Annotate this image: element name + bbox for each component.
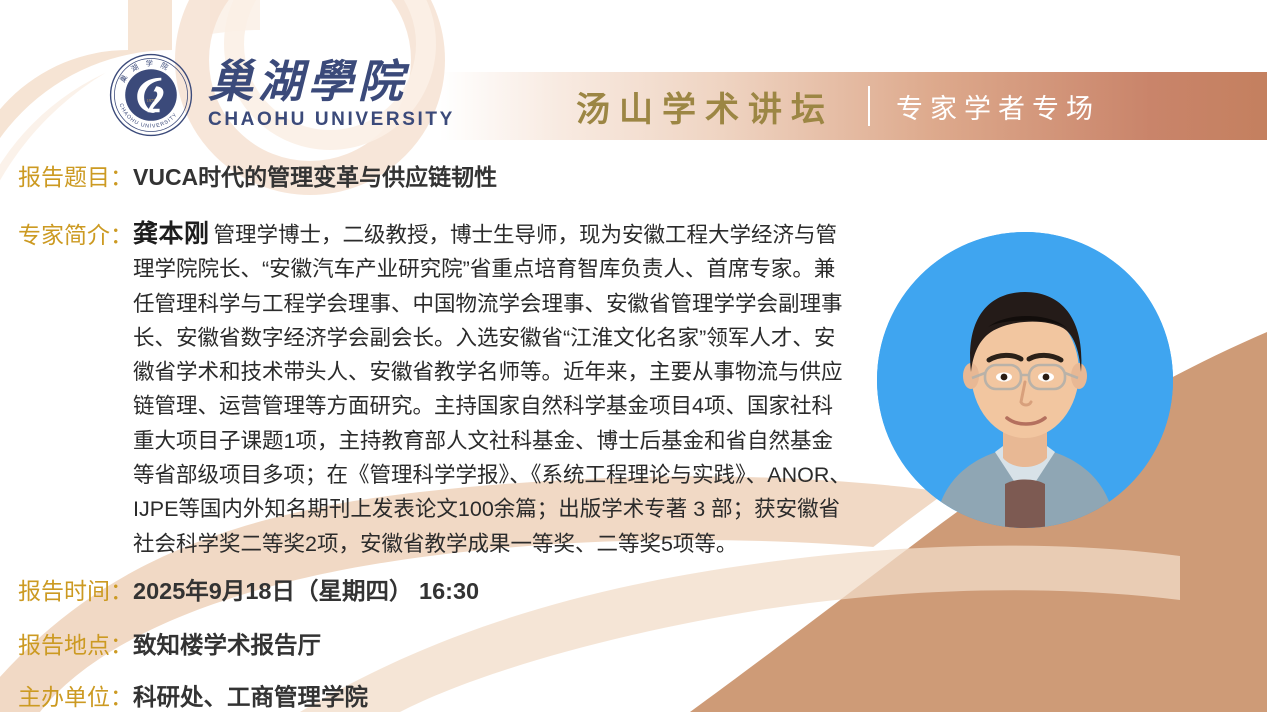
banner-main-title: 汤山学术讲坛 <box>576 82 834 131</box>
lecture-time-label: 报告时间： <box>18 572 133 606</box>
lecture-host-row: 主办单位： 科研处、工商管理学院 <box>18 678 368 712</box>
logo-wordmark-chinese: 巢湖學院 <box>208 59 455 106</box>
lecture-title-value: VUCA时代的管理变革与供应链韧性 <box>133 158 497 192</box>
speaker-bio-body: 龚本刚管理学博士，二级教授，博士生导师，现为安徽工程大学经济与管理学院院长、“安… <box>133 214 853 561</box>
lecture-host-label: 主办单位： <box>18 678 133 712</box>
lecture-host-value: 科研处、工商管理学院 <box>133 678 368 712</box>
speaker-bio-text: 管理学博士，二级教授，博士生导师，现为安徽工程大学经济与管理学院院长、“安徽汽车… <box>133 223 851 556</box>
lecture-title-row: 报告题目： VUCA时代的管理变革与供应链韧性 <box>18 158 497 192</box>
lecture-place-value: 致知楼学术报告厅 <box>133 626 321 660</box>
speaker-name: 龚本刚 <box>133 220 210 248</box>
svg-text:1977: 1977 <box>147 98 156 103</box>
speaker-bio-label: 专家简介： <box>18 214 133 250</box>
lecture-time-value: 2025年9月18日（星期四） 16:30 <box>133 572 479 606</box>
speaker-portrait <box>877 232 1173 528</box>
lecture-poster: 1977 巢 湖 学 院 CHAOHU UNIVERSITY 巢湖學院 CHAO… <box>0 0 1267 712</box>
university-logo-block: 1977 巢 湖 学 院 CHAOHU UNIVERSITY 巢湖學院 CHAO… <box>108 52 455 138</box>
forum-banner: 汤山学术讲坛 专家学者专场 <box>440 72 1267 140</box>
lecture-time-row: 报告时间： 2025年9月18日（星期四） 16:30 <box>18 572 479 606</box>
chaohu-university-seal-icon: 1977 巢 湖 学 院 CHAOHU UNIVERSITY <box>108 52 194 138</box>
portrait-illustration <box>877 232 1173 528</box>
lecture-place-label: 报告地点： <box>18 626 133 660</box>
banner-divider <box>868 86 870 126</box>
lecture-place-row: 报告地点： 致知楼学术报告厅 <box>18 626 321 660</box>
speaker-bio-row: 专家简介： 龚本刚管理学博士，二级教授，博士生导师，现为安徽工程大学经济与管理学… <box>18 214 898 561</box>
logo-wordmark-english: CHAOHU UNIVERSITY <box>208 109 455 131</box>
lecture-title-label: 报告题目： <box>18 158 133 192</box>
banner-subtitle: 专家学者专场 <box>896 87 1100 126</box>
